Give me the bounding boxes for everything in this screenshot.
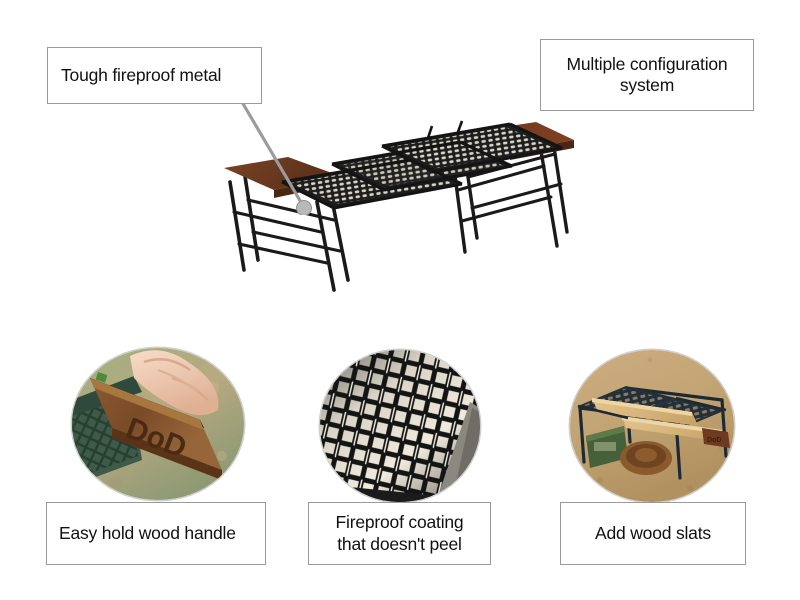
leader-line [240,100,370,215]
callout-coating-line2: that doesn't peel [337,534,461,554]
callout-config-label: Multiple configuration system [567,54,728,97]
callout-config-line1: Multiple configuration [567,54,728,74]
callout-multiple-configuration-system[interactable]: Multiple configuration system [540,39,754,111]
detail-photo-wood-handle: DoD [72,348,244,500]
svg-text:DoD: DoD [707,437,721,444]
callout-tough-fireproof-metal[interactable]: Tough fireproof metal [47,47,262,104]
callout-slats-label: Add wood slats [595,523,711,544]
callout-metal-label: Tough fireproof metal [61,65,221,86]
infographic-canvas: DoD [0,0,800,600]
callout-fireproof-coating[interactable]: Fireproof coating that doesn't peel [308,502,491,565]
callout-handle-label: Easy hold wood handle [59,523,236,544]
callout-add-wood-slats[interactable]: Add wood slats [560,502,746,565]
callout-coating-line1: Fireproof coating [336,512,464,532]
detail-photo-wood-slats: DoD [570,350,734,502]
detail-photo-mesh-coating [320,350,480,502]
callout-coating-label: Fireproof coating that doesn't peel [336,512,464,555]
callout-easy-hold-wood-handle[interactable]: Easy hold wood handle [46,502,266,565]
callout-config-line2: system [620,75,674,95]
